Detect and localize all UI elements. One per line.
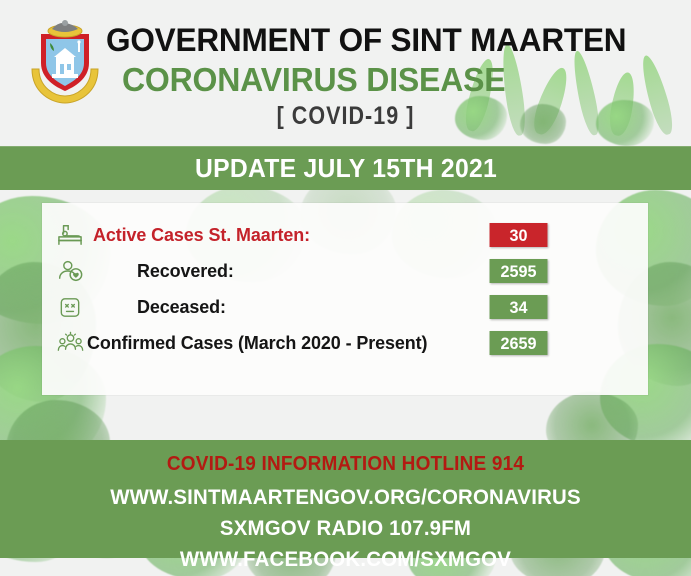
radio-info: SXMGOV RADIO 107.9FM [17,510,673,541]
covid-update-poster: GOVERNMENT OF SINT MAARTEN CORONAVIRUS D… [0,0,691,576]
facebook-link[interactable]: WWW.FACEBOOK.COM/SXMGOV [17,541,673,572]
coat-of-arms-icon [28,17,102,105]
stat-value-confirmed-cases: 2659 [490,331,548,355]
page-title: GOVERNMENT OF SINT MAARTEN [106,24,659,57]
covid-tag: [ COVID-19 ] [48,104,642,129]
person-heart-icon [54,256,86,286]
stat-value-active-cases: 30 [490,223,548,247]
website-link[interactable]: WWW.SINTMAARTENGOV.ORG/CORONAVIRUS [17,476,673,510]
deceased-face-icon [54,292,86,322]
update-banner-text: UPDATE JULY 15TH 2021 [194,153,496,184]
statistics-panel: Active Cases St. Maarten: 30 Recovered: … [42,203,648,395]
stat-row-active-cases: Active Cases St. Maarten: 30 [42,217,648,253]
stat-label-active-cases: Active Cases St. Maarten: [93,224,310,246]
page-subtitle: CORONAVIRUS DISEASE [122,63,665,96]
stat-label-deceased: Deceased: [137,296,226,318]
stat-label-confirmed-cases: Confirmed Cases (March 2020 - Present) [87,332,427,354]
stat-row-deceased: Deceased: 34 [42,289,648,325]
stat-row-confirmed-cases: Confirmed Cases (March 2020 - Present) 2… [42,325,648,361]
stat-row-recovered: Recovered: 2595 [42,253,648,289]
footer-contact-banner: COVID-19 INFORMATION HOTLINE 914 WWW.SIN… [0,440,691,558]
people-group-icon [54,328,86,358]
stat-value-deceased: 34 [490,295,548,319]
poster-header: GOVERNMENT OF SINT MAARTEN CORONAVIRUS D… [0,0,691,140]
hotline-text: COVID-19 INFORMATION HOTLINE 914 [17,440,673,476]
stat-value-recovered: 2595 [490,259,548,283]
update-banner: UPDATE JULY 15TH 2021 [0,146,691,190]
stat-label-recovered: Recovered: [137,260,234,282]
hospital-bed-icon [54,220,86,250]
